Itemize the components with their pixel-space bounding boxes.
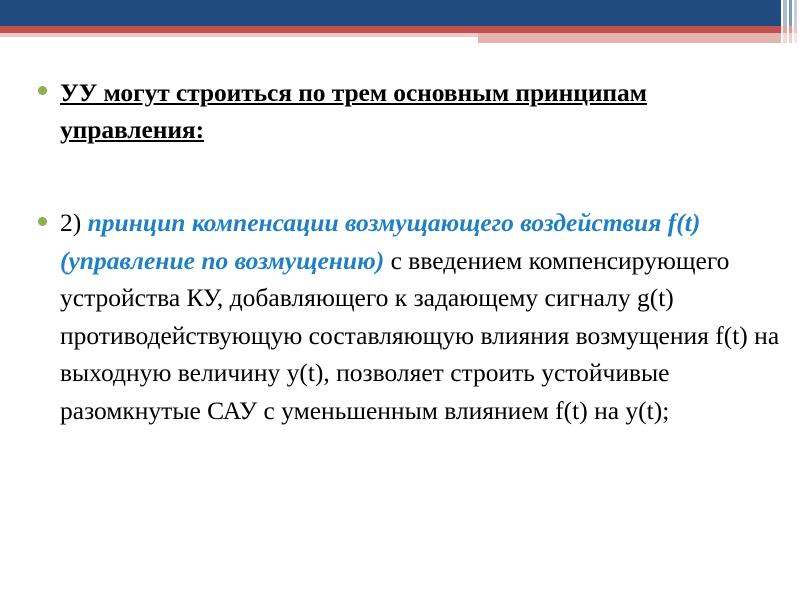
header-pink-band-right: [478, 33, 800, 43]
bullet-paragraph-item-2: 2) принцип компенсации возмущающего возд…: [34, 204, 794, 429]
header-navy-band: [0, 0, 800, 26]
bullet-paragraph-heading: УУ могут строиться по трем основным прин…: [34, 74, 794, 148]
heading-paragraph-text: УУ могут строиться по трем основным прин…: [60, 78, 647, 144]
bullet-dot-icon: [38, 86, 47, 95]
item-number-label: 2): [60, 208, 88, 237]
header-red-band: [0, 26, 800, 33]
header-stripe-group: [778, 0, 800, 43]
paragraph-spacer: [34, 148, 794, 204]
slide-header-banner: [0, 0, 800, 42]
bullet-dot-icon: [38, 217, 47, 226]
slide-body: УУ могут строиться по трем основным прин…: [34, 74, 794, 429]
header-pink-band-left: [0, 33, 478, 37]
